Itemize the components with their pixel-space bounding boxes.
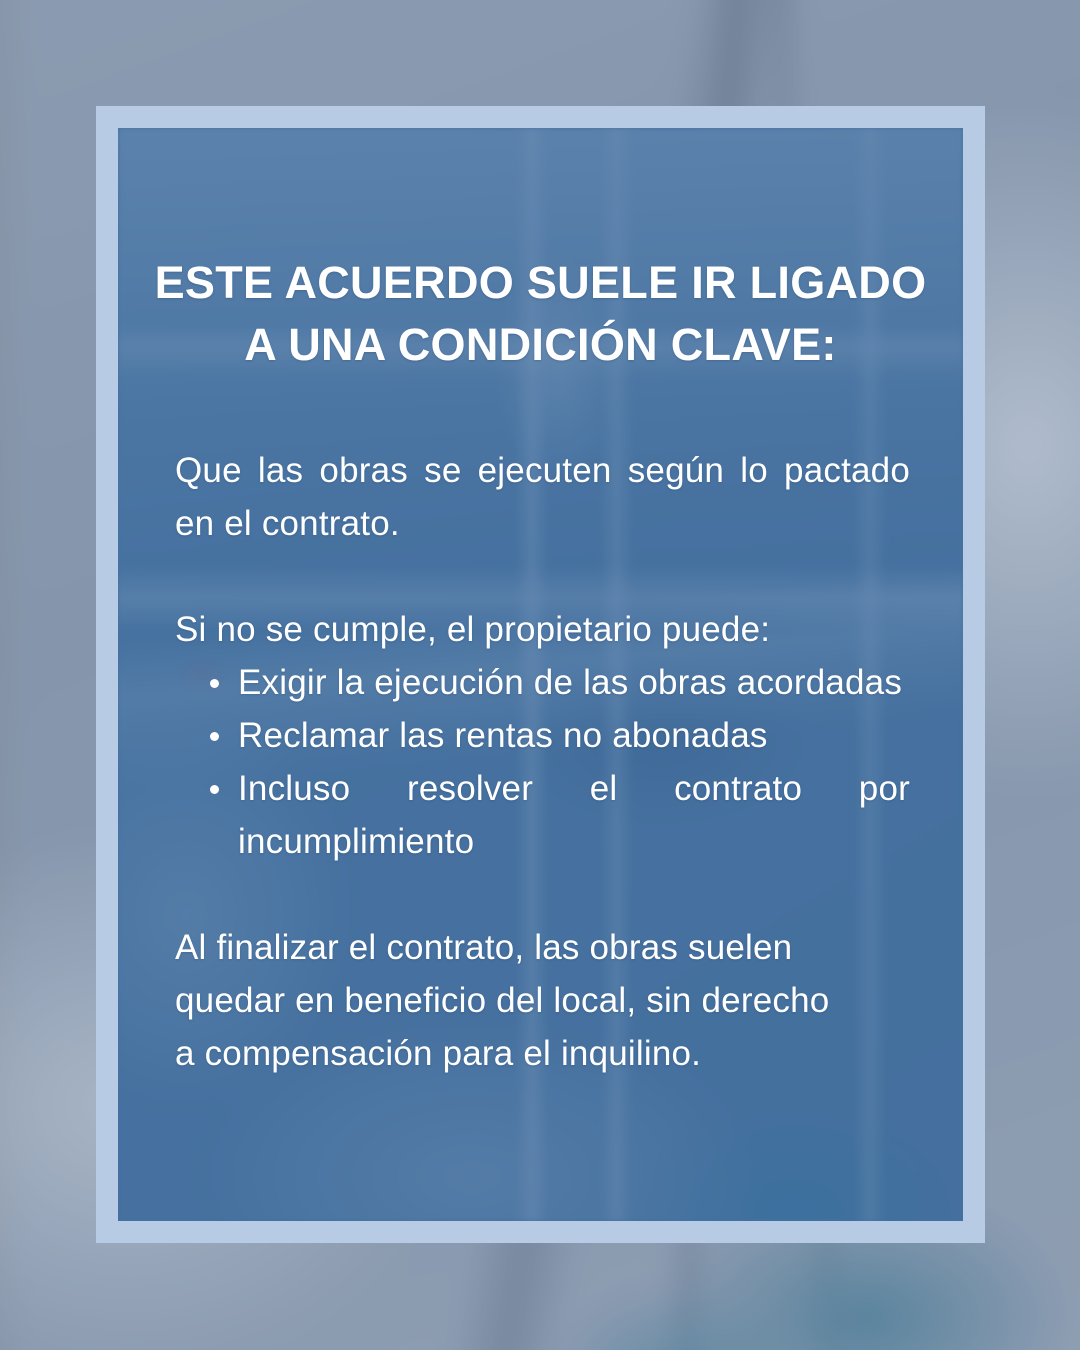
panel-content: ESTE ACUERDO SUELE IR LIGADO A UNA CONDI… xyxy=(118,128,963,1221)
list-item: Incluso resolver el contrato por incumpl… xyxy=(206,762,910,868)
title-line-2: A UNA CONDICIÓN CLAVE: xyxy=(118,314,963,376)
closing-paragraph: Al finalizar el contrato, las obras suel… xyxy=(175,921,910,1080)
paragraph-spacer xyxy=(175,550,910,603)
closing-line-3: a compensación para el inquilino. xyxy=(175,1027,910,1080)
paragraph-condition: Que las obras se ejecuten según lo pacta… xyxy=(175,444,910,550)
list-item: Exigir la ejecución de las obras acordad… xyxy=(206,656,910,709)
list-item: Reclamar las rentas no abonadas xyxy=(206,709,910,762)
poster-canvas: ESTE ACUERDO SUELE IR LIGADO A UNA CONDI… xyxy=(0,0,1080,1350)
title-line-1: ESTE ACUERDO SUELE IR LIGADO xyxy=(118,252,963,314)
closing-line-2: quedar en beneficio del local, sin derec… xyxy=(175,974,910,1027)
body-content: Que las obras se ejecuten según lo pacta… xyxy=(175,444,910,1080)
lead-in-text: Si no se cumple, el propietario puede: xyxy=(175,603,910,656)
content-frame-border: ESTE ACUERDO SUELE IR LIGADO A UNA CONDI… xyxy=(96,106,985,1243)
remedies-list: Exigir la ejecución de las obras acordad… xyxy=(175,656,910,868)
list-spacer xyxy=(175,868,910,921)
page-title: ESTE ACUERDO SUELE IR LIGADO A UNA CONDI… xyxy=(118,252,963,376)
closing-line-1: Al finalizar el contrato, las obras suel… xyxy=(175,921,910,974)
content-panel: ESTE ACUERDO SUELE IR LIGADO A UNA CONDI… xyxy=(118,128,963,1221)
